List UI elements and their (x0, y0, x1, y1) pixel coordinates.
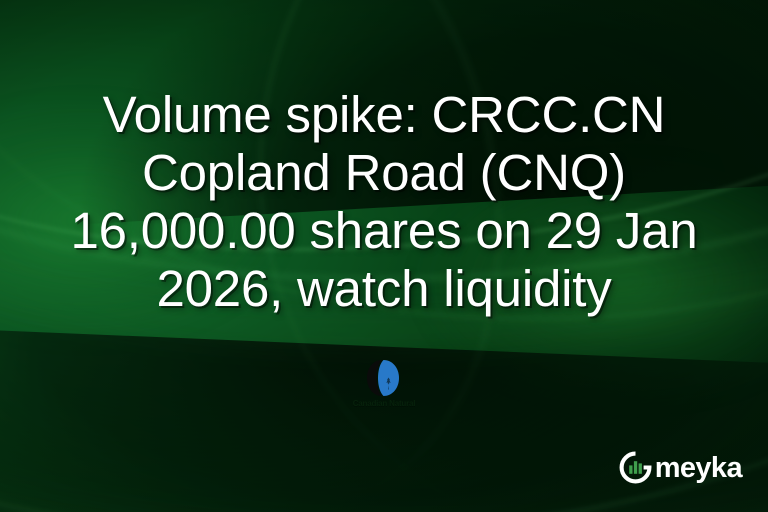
meyka-brand-label: meyka (655, 454, 742, 483)
company-logo-label: Canadian Natural (353, 399, 416, 408)
meyka-bar-chart-ring-icon (619, 451, 652, 484)
promo-card: Volume spike: CRCC.CN Copland Road (CNQ)… (0, 0, 768, 512)
canadian-natural-ring-icon (361, 358, 407, 398)
meyka-brand: meyka (619, 451, 742, 484)
headline-text: Volume spike: CRCC.CN Copland Road (CNQ)… (0, 86, 768, 318)
company-logo: Canadian Natural (329, 358, 439, 408)
